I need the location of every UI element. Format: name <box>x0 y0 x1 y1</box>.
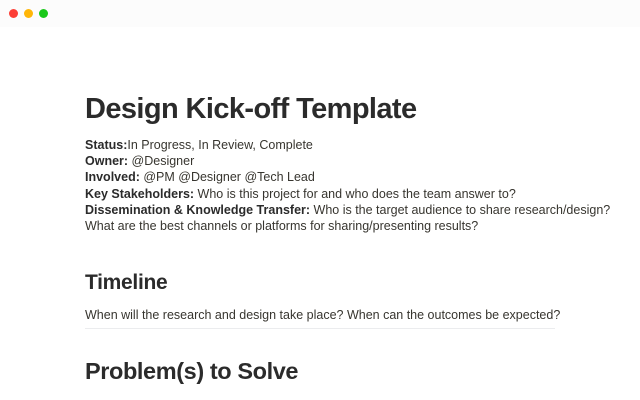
meta-value-status: In Progress, In Review, Complete <box>127 138 313 152</box>
meta-label-dissemination: Dissemination & Knowledge Transfer: <box>85 203 310 217</box>
meta-row-involved[interactable]: Involved: @PM @Designer @Tech Lead <box>85 169 585 185</box>
meta-value-channels: What are the best channels or platforms … <box>85 219 478 233</box>
meta-label-involved: Involved: <box>85 170 140 184</box>
meta-label-key-stakeholders: Key Stakeholders: <box>85 187 194 201</box>
meta-value-key-stakeholders: Who is this project for and who does the… <box>194 187 516 201</box>
meta-row-channels[interactable]: What are the best channels or platforms … <box>85 218 585 234</box>
meta-row-key-stakeholders[interactable]: Key Stakeholders: Who is this project fo… <box>85 186 585 202</box>
meta-value-involved: @PM @Designer @Tech Lead <box>140 170 315 184</box>
title-bar <box>0 0 640 27</box>
app-window: Design Kick-off Template Status:In Progr… <box>0 0 640 400</box>
section-heading-timeline[interactable]: Timeline <box>85 270 167 295</box>
window-controls <box>9 9 48 18</box>
meta-row-dissemination[interactable]: Dissemination & Knowledge Transfer: Who … <box>85 202 585 218</box>
meta-row-status[interactable]: Status:In Progress, In Review, Complete <box>85 137 585 153</box>
document-canvas: Design Kick-off Template Status:In Progr… <box>0 27 640 400</box>
section-body-timeline[interactable]: When will the research and design take p… <box>85 307 560 323</box>
meta-value-owner: @Designer <box>128 154 194 168</box>
meta-value-dissemination: Who is the target audience to share rese… <box>310 203 610 217</box>
section-divider <box>85 328 555 329</box>
meta-label-status: Status: <box>85 138 127 152</box>
metadata-block: Status:In Progress, In Review, Complete … <box>85 137 585 234</box>
meta-label-owner: Owner: <box>85 154 128 168</box>
page-title[interactable]: Design Kick-off Template <box>85 92 417 126</box>
section-heading-problems-to-solve[interactable]: Problem(s) to Solve <box>85 357 298 385</box>
minimize-window-button[interactable] <box>24 9 33 18</box>
close-window-button[interactable] <box>9 9 18 18</box>
maximize-window-button[interactable] <box>39 9 48 18</box>
meta-row-owner[interactable]: Owner: @Designer <box>85 153 585 169</box>
